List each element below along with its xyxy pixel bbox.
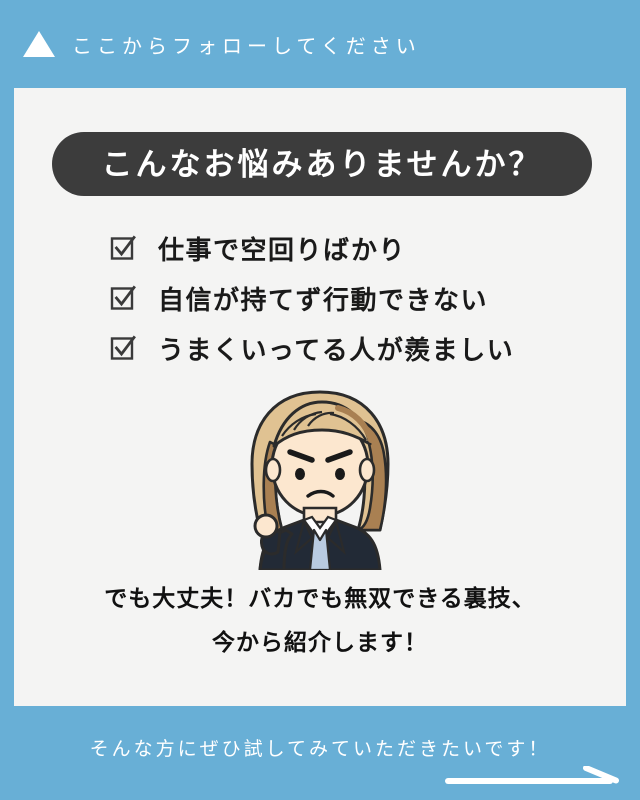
content-card: こんなお悩みありませんか？ 仕事で空回りばかり 自信が持てず行動できない うまく… [14, 88, 626, 706]
checkbox-checked-icon [110, 335, 136, 361]
footer-bar: そんな方にぜひ試してみていただきたいです！ [0, 706, 640, 800]
list-item: 自信が持てず行動できない [110, 274, 580, 322]
card-message: でも大丈夫！バカでも無双できる裏技、 今から紹介します！ [14, 576, 626, 664]
checkbox-checked-icon [110, 235, 136, 261]
list-item-label: うまくいってる人が羨ましい [158, 330, 514, 367]
card-message-line-1: でも大丈夫！バカでも無双できる裏技、 [14, 576, 626, 620]
title-pill: こんなお悩みありませんか？ [52, 132, 592, 196]
card-message-line-2: 今から紹介します！ [14, 620, 626, 664]
header-follow-text: ここからフォローしてください [72, 30, 421, 59]
page-title: こんなお悩みありませんか？ [101, 149, 542, 180]
list-item: 仕事で空回りばかり [110, 224, 580, 272]
list-item-label: 仕事で空回りばかり [158, 230, 406, 267]
checkbox-checked-icon [110, 285, 136, 311]
arrow-right-icon [444, 766, 624, 790]
triangle-up-icon [22, 29, 56, 59]
concern-checklist: 仕事で空回りばかり 自信が持てず行動できない うまくいってる人が羨ましい [110, 224, 580, 374]
frustrated-businesswoman-illustration [230, 380, 410, 570]
list-item: うまくいってる人が羨ましい [110, 324, 580, 372]
header-bar: ここからフォローしてください [0, 0, 640, 88]
list-item-label: 自信が持てず行動できない [158, 280, 488, 317]
footer-text: そんな方にぜひ試してみていただきたいです！ [0, 734, 640, 761]
